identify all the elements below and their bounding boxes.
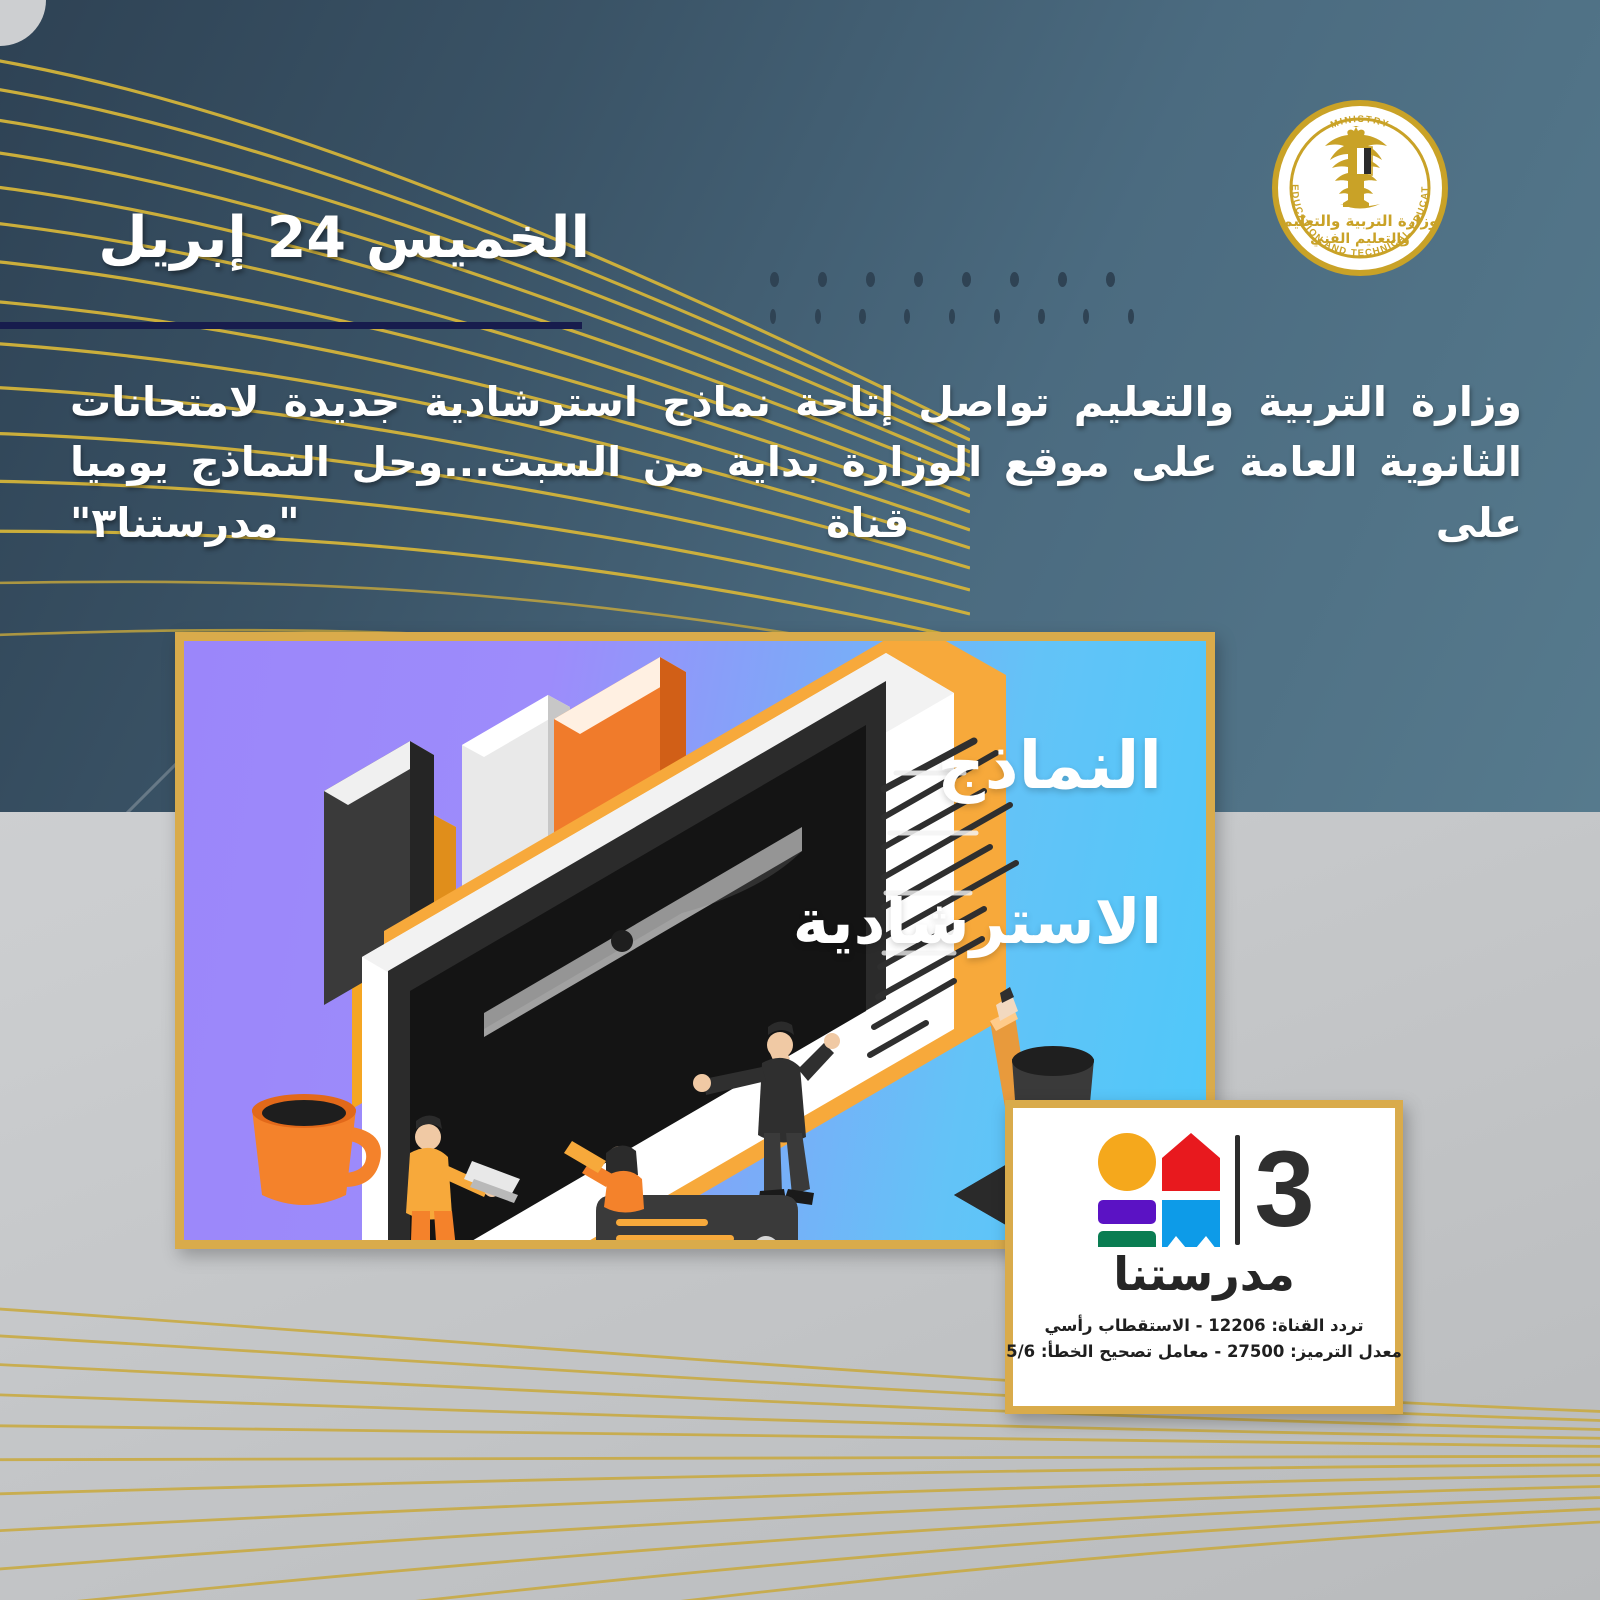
dot	[1010, 272, 1019, 287]
dot	[962, 272, 971, 287]
dot	[815, 309, 821, 324]
channel-logo-row: 3	[1095, 1132, 1312, 1247]
dot	[994, 309, 1000, 324]
ministry-seal-logo: وزارة التربية والتعليم والتعليم الفني MI…	[1272, 100, 1448, 276]
channel-wordmark: مدرستنا	[1113, 1251, 1295, 1297]
illustration-title-line1: النماذج	[937, 727, 1162, 804]
dot	[1128, 309, 1134, 324]
dot	[949, 309, 955, 324]
madrasatna-logo-icon	[1095, 1132, 1221, 1247]
dot	[1083, 309, 1089, 324]
frequency-line-2: معدل الترميز: 27500 - معامل تصحيح الخطأ:…	[1006, 1339, 1402, 1365]
dot-row	[770, 272, 1115, 287]
frequency-line-1: تردد القناة: 12206 - الاستقطاب رأسي	[1006, 1313, 1402, 1339]
dot-grid-ornament	[770, 272, 1115, 324]
channel-number: 3	[1254, 1145, 1312, 1234]
dot	[818, 272, 827, 287]
dot	[770, 272, 779, 287]
dot	[1106, 272, 1115, 287]
illustration-title: النماذج الاسترشادية	[793, 733, 1162, 953]
dot	[1058, 272, 1067, 287]
dot	[904, 309, 910, 324]
dot	[914, 272, 923, 287]
channel-frequency-info: تردد القناة: 12206 - الاستقطاب رأسي معدل…	[1006, 1313, 1402, 1364]
channel-card-inner: 3 مدرستنا تردد القناة: 12206 - الاستقطاب…	[1013, 1108, 1395, 1406]
page-title: وزارة التربية والتعليم تواصل إتاحة نماذج…	[70, 372, 1522, 553]
dot-row	[770, 309, 1134, 324]
dot	[1038, 309, 1044, 324]
dot	[866, 272, 875, 287]
channel-divider-bar	[1235, 1135, 1240, 1245]
illustration-title-line2: الاسترشادية	[793, 891, 1162, 953]
poster-canvas: الخميس 24 إبريل وزارة التربية والتعليم	[0, 0, 1600, 1600]
dot	[859, 309, 865, 324]
header-divider	[0, 322, 582, 329]
date-label: الخميس 24 إبريل	[98, 205, 590, 271]
channel-logo-card: 3 مدرستنا تردد القناة: 12206 - الاستقطاب…	[1005, 1100, 1403, 1414]
dot	[770, 309, 776, 324]
